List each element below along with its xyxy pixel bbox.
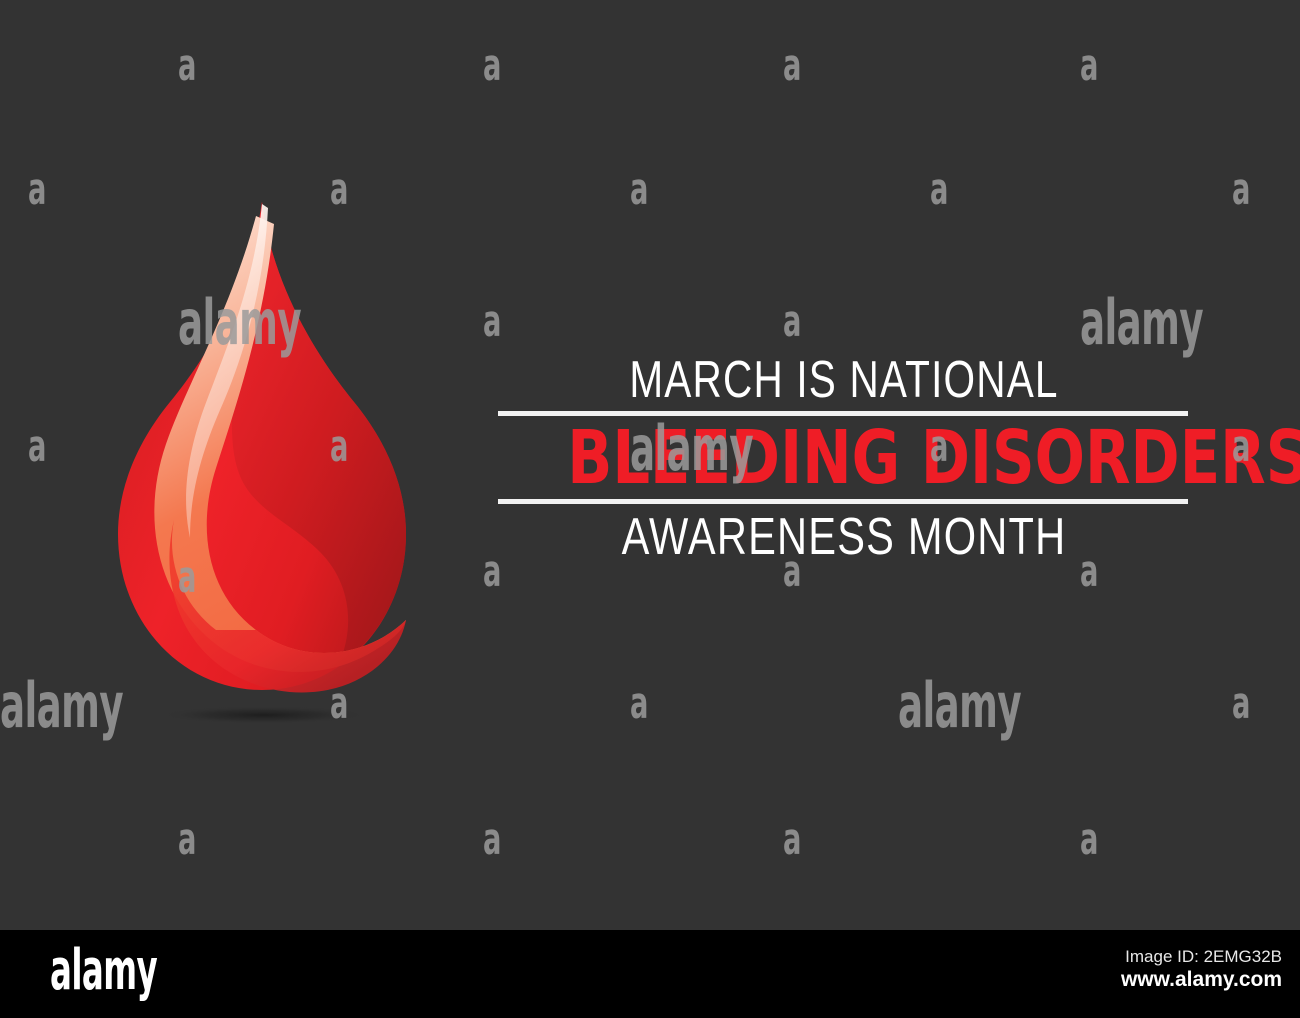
watermark-tile: a <box>178 818 196 862</box>
watermark-tile: a <box>483 818 501 862</box>
headline-line-3: AWARENESS MONTH <box>567 508 1121 566</box>
watermark-tile: a <box>1080 44 1098 88</box>
poster-canvas: MARCH IS NATIONAL BLEEDING DISORDERS AWA… <box>0 0 1300 930</box>
headline-block: MARCH IS NATIONAL BLEEDING DISORDERS AWA… <box>498 352 1190 566</box>
image-id-label: Image ID: 2EMG32B <box>1121 946 1282 967</box>
blood-drop-graphic <box>104 190 424 735</box>
poster-screenshot: MARCH IS NATIONAL BLEEDING DISORDERS AWA… <box>0 0 1300 1018</box>
watermark-tile: a <box>630 168 648 212</box>
watermark-tile: a <box>630 682 648 726</box>
drop-shadow <box>159 706 369 724</box>
watermark-tile: a <box>483 300 501 344</box>
watermark-tile: a <box>930 168 948 212</box>
watermark-tile: alamy <box>1080 292 1203 354</box>
alamy-url: www.alamy.com <box>1121 967 1282 992</box>
alamy-footer-bar <box>0 930 1300 1018</box>
watermark-tile: a <box>783 300 801 344</box>
watermark-tile: a <box>1232 168 1250 212</box>
watermark-tile: alamy <box>898 675 1021 737</box>
watermark-tile: a <box>783 818 801 862</box>
watermark-tile: a <box>1080 818 1098 862</box>
watermark-tile: a <box>783 44 801 88</box>
headline-line-2: BLEEDING DISORDERS <box>567 418 1121 498</box>
watermark-tile: a <box>1232 682 1250 726</box>
headline-line-1: MARCH IS NATIONAL <box>574 352 1114 408</box>
footer-meta: Image ID: 2EMG32B www.alamy.com <box>1121 946 1282 992</box>
watermark-tile: a <box>483 44 501 88</box>
alamy-logo: alamy <box>50 942 157 1000</box>
watermark-tile: a <box>178 44 196 88</box>
watermark-tile: a <box>28 168 46 212</box>
watermark-tile: a <box>28 425 46 469</box>
blood-drop-icon <box>104 190 424 735</box>
